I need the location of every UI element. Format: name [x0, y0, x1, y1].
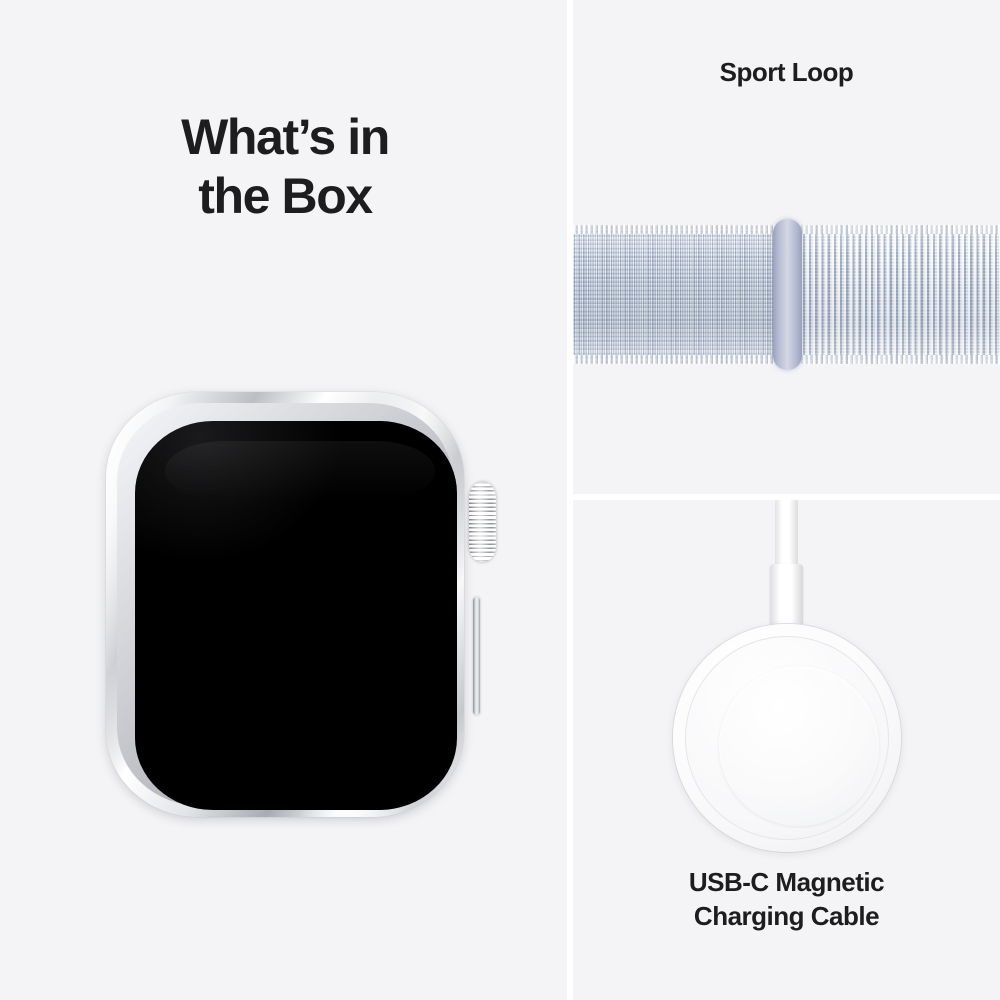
digital-crown-icon [469, 482, 496, 562]
charging-puck-face [719, 666, 879, 826]
apple-watch-image [106, 392, 480, 817]
cable-collar [770, 564, 803, 632]
charging-cable-image [573, 500, 1000, 860]
watch-display-glint [165, 441, 435, 501]
charging-puck-ring [685, 636, 889, 840]
panel-whats-in-the-box: What’s in the Box [0, 0, 567, 1000]
cable-cord [775, 500, 798, 568]
sport-loop-label: Sport Loop [573, 57, 1000, 88]
band-loop-side [573, 225, 788, 364]
watch-case [106, 392, 464, 817]
band-hook-side [788, 225, 1000, 364]
watch-display [135, 421, 457, 810]
watch-side-button [473, 597, 480, 715]
watch-bezel [117, 403, 453, 806]
product-image-canvas: What’s in the Box Sport Loop [0, 0, 1000, 1000]
charging-puck [673, 624, 901, 852]
page-title: What’s in the Box [60, 108, 510, 226]
band-keeper [773, 219, 802, 370]
charging-cable-label: USB-C Magnetic Charging Cable [573, 866, 1000, 934]
sport-loop-band-image [573, 225, 1000, 364]
